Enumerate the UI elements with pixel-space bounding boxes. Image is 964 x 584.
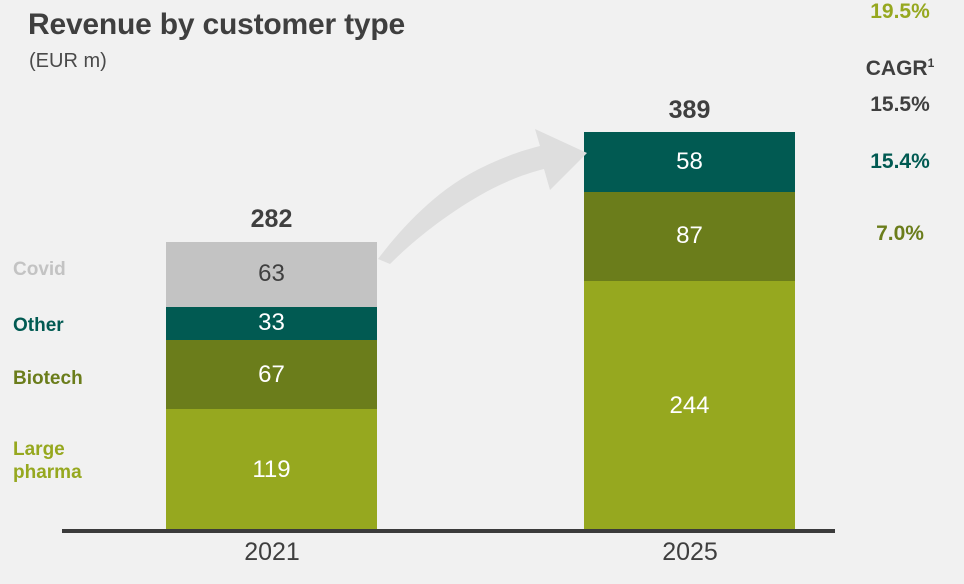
x-axis-label-2021: 2021 xyxy=(162,538,382,567)
bar-segment-value: 119 xyxy=(252,458,290,482)
bar-segment-value: 63 xyxy=(258,262,285,286)
cagr-value-biotech: 7.0% xyxy=(836,222,964,246)
bar-total-2021: 282 xyxy=(166,205,377,234)
bar-segment-covid-2021: 63 xyxy=(166,242,377,307)
stacked-bar-2025: 58 87 244 xyxy=(584,132,795,531)
legend-label-biotech: Biotech xyxy=(13,367,83,390)
cagr-value-other: 15.4% xyxy=(836,150,964,174)
page-title: Revenue by customer type xyxy=(28,8,405,42)
bar-segment-value: 244 xyxy=(669,394,709,418)
cagr-value-total: 15.5% xyxy=(836,93,964,117)
legend-label-other: Other xyxy=(13,314,64,337)
x-axis-label-2025: 2025 xyxy=(580,538,800,567)
legend-label-large-pharma: Large pharma xyxy=(13,438,82,484)
cagr-footnote-marker: 1 xyxy=(928,56,935,70)
cagr-value-large-pharma: 19.5% xyxy=(836,0,964,24)
bar-segment-value: 87 xyxy=(676,224,703,248)
bar-segment-biotech-2025: 87 xyxy=(584,192,795,281)
bar-segment-value: 33 xyxy=(258,311,285,335)
cagr-header-label: CAGR xyxy=(866,57,928,80)
bar-segment-other-2021: 33 xyxy=(166,307,377,341)
chart-units-subtitle: (EUR m) xyxy=(29,50,107,73)
cagr-column-header: CAGR1 xyxy=(836,56,964,81)
x-axis-line xyxy=(62,529,835,533)
growth-arrow-icon xyxy=(372,112,602,267)
legend-label-covid: Covid xyxy=(13,258,66,281)
bar-segment-value: 67 xyxy=(258,363,285,387)
bar-segment-large-pharma-2021: 119 xyxy=(166,409,377,531)
bar-segment-large-pharma-2025: 244 xyxy=(584,281,795,531)
bar-segment-other-2025: 58 xyxy=(584,132,795,191)
stacked-bar-2021: 63 33 67 119 xyxy=(166,242,377,531)
bar-segment-value: 58 xyxy=(676,150,703,174)
chart-slide: Revenue by customer type (EUR m) CAGR1 1… xyxy=(0,0,964,584)
bar-segment-biotech-2021: 67 xyxy=(166,340,377,409)
bar-total-2025: 389 xyxy=(584,96,795,125)
